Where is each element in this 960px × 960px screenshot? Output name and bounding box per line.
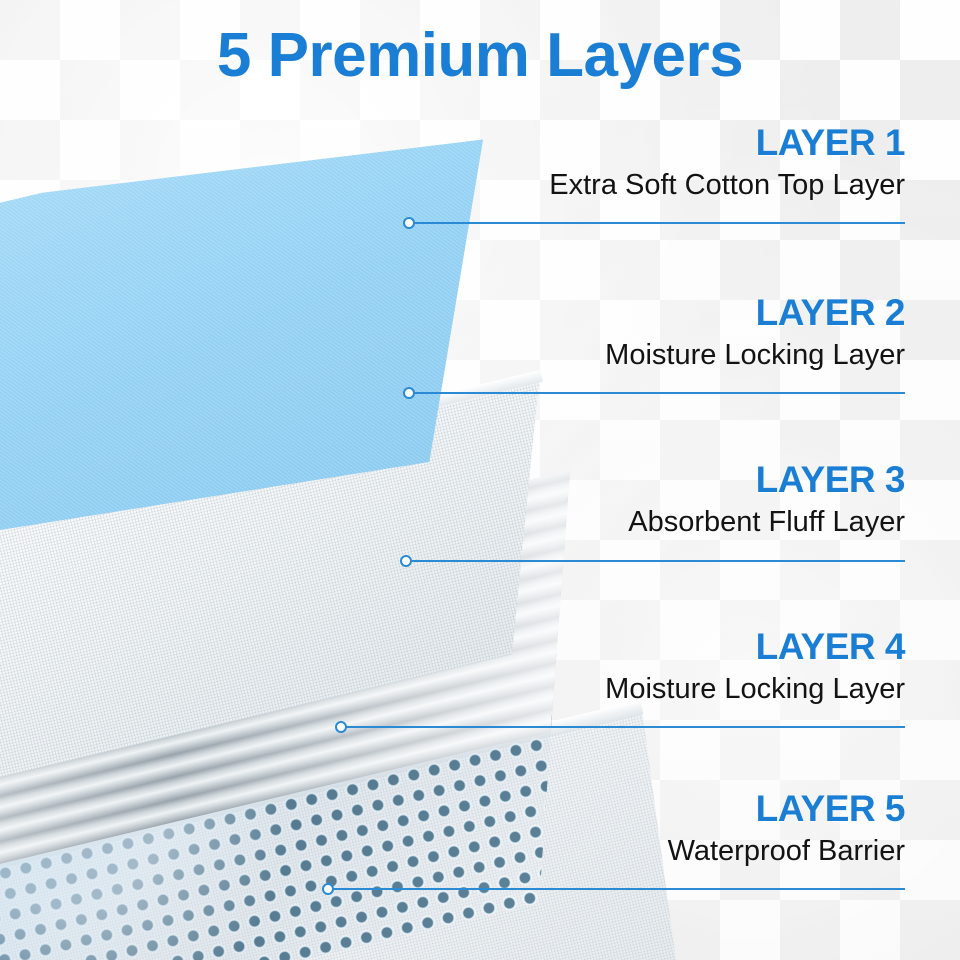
connector-line-layer-3 (405, 560, 905, 562)
connector-dot-layer-1 (403, 217, 415, 229)
layer-label-3: LAYER 3 Absorbent Fluff Layer (345, 461, 905, 540)
layer-2-subtitle: Moisture Locking Layer (345, 337, 905, 373)
layer-label-1: LAYER 1 Extra Soft Cotton Top Layer (345, 124, 905, 203)
connector-dot-layer-5 (322, 883, 334, 895)
layer-2-title: LAYER 2 (345, 294, 905, 333)
layer-label-5: LAYER 5 Waterproof Barrier (345, 790, 905, 869)
infographic-canvas: 5 Premium Layers LAYER 1 Extra Soft Cott… (0, 0, 960, 960)
connector-dot-layer-3 (400, 555, 412, 567)
layer-4-subtitle: Moisture Locking Layer (345, 671, 905, 707)
connector-dot-layer-4 (335, 721, 347, 733)
layer-1-subtitle: Extra Soft Cotton Top Layer (345, 167, 905, 203)
layer-5-subtitle: Waterproof Barrier (345, 833, 905, 869)
layer-label-2: LAYER 2 Moisture Locking Layer (345, 294, 905, 373)
connector-line-layer-1 (408, 222, 905, 224)
connector-line-layer-4 (340, 726, 905, 728)
layer-3-subtitle: Absorbent Fluff Layer (345, 504, 905, 540)
connector-line-layer-2 (408, 392, 905, 394)
layer-5-title: LAYER 5 (345, 790, 905, 829)
page-title: 5 Premium Layers (0, 20, 960, 91)
layer-label-4: LAYER 4 Moisture Locking Layer (345, 628, 905, 707)
connector-line-layer-5 (327, 888, 905, 890)
layer-1-title: LAYER 1 (345, 124, 905, 163)
connector-dot-layer-2 (403, 387, 415, 399)
layer-3-title: LAYER 3 (345, 461, 905, 500)
layer-4-title: LAYER 4 (345, 628, 905, 667)
